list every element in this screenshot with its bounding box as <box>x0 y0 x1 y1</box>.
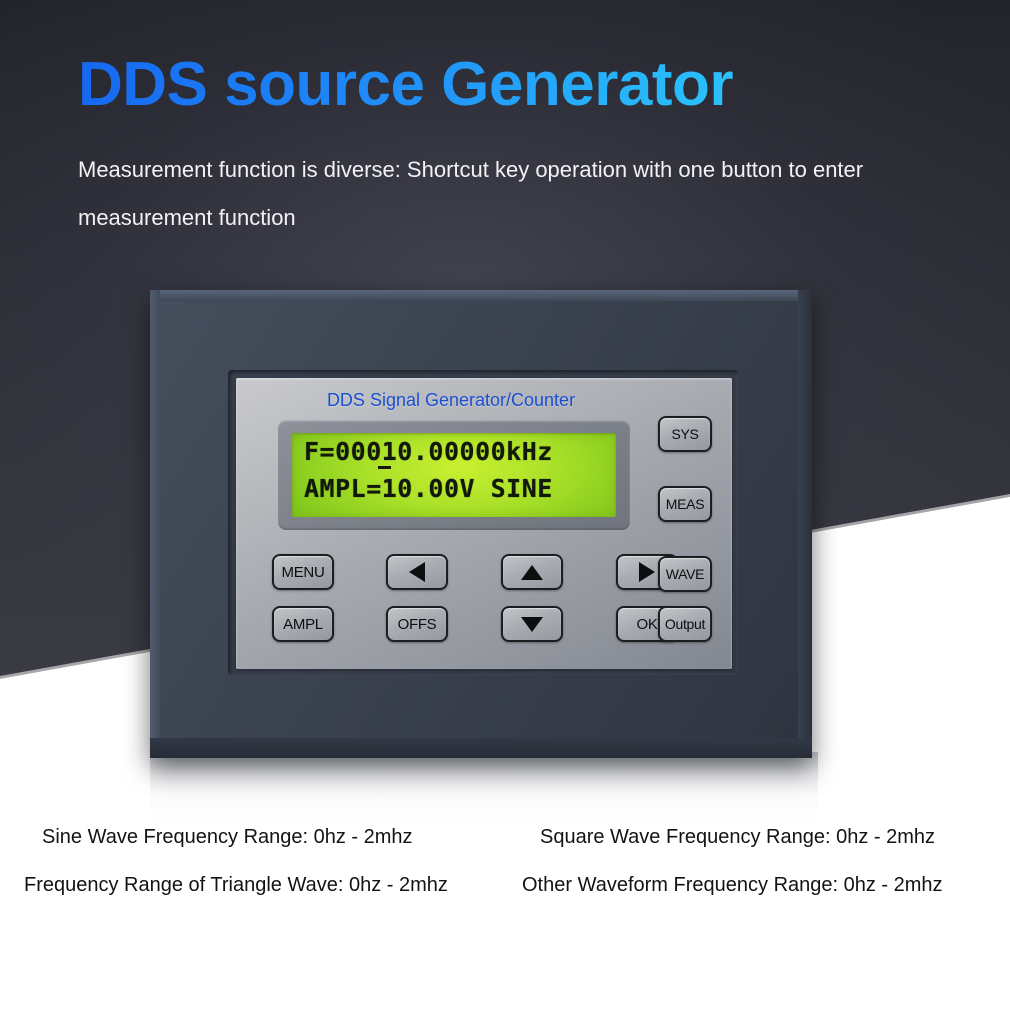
device-brand-label: DDS Signal Generator/Counter <box>236 390 666 411</box>
meas-button[interactable]: MEAS <box>658 486 712 522</box>
page-subtitle: Measurement function is diverse: Shortcu… <box>78 146 958 242</box>
chassis-top-bevel <box>150 290 812 301</box>
page-title: DDS source Generator <box>78 52 958 117</box>
dds-signal-generator-device: DDS Signal Generator/Counter F=00010.000… <box>150 290 812 758</box>
lcd-bezel: F=00010.00000kHz AMPL=10.00V SINE <box>278 420 630 530</box>
lcd-cursor-underline <box>378 466 391 469</box>
ampl-button[interactable]: AMPL <box>272 606 334 642</box>
right-arrow-icon <box>639 562 655 582</box>
spec-sine-wave: Sine Wave Frequency Range: 0hz - 2mhz <box>42 826 413 849</box>
output-button[interactable]: Output <box>658 606 712 642</box>
left-arrow-button[interactable] <box>386 554 448 590</box>
menu-button[interactable]: MENU <box>272 554 334 590</box>
spec-other-waveform: Other Waveform Frequency Range: 0hz - 2m… <box>522 874 943 897</box>
product-banner: DDS source Generator Measurement functio… <box>0 0 1010 1010</box>
down-arrow-button[interactable] <box>501 606 563 642</box>
chassis-right-bevel <box>798 290 812 758</box>
up-arrow-button[interactable] <box>501 554 563 590</box>
down-arrow-icon <box>521 617 543 632</box>
offs-button[interactable]: OFFS <box>386 606 448 642</box>
device-reflection <box>150 752 818 826</box>
wave-button[interactable]: WAVE <box>658 556 712 592</box>
lcd-line-amplitude: AMPL=10.00V SINE <box>304 474 553 503</box>
device-faceplate: DDS Signal Generator/Counter F=00010.000… <box>236 378 732 669</box>
sys-button[interactable]: SYS <box>658 416 712 452</box>
lcd-display: F=00010.00000kHz AMPL=10.00V SINE <box>292 433 616 517</box>
left-arrow-icon <box>409 562 425 582</box>
spec-triangle-wave: Frequency Range of Triangle Wave: 0hz - … <box>24 874 448 897</box>
up-arrow-icon <box>521 565 543 580</box>
lcd-line-frequency: F=00010.00000kHz <box>304 437 553 466</box>
chassis-left-bevel <box>150 290 160 758</box>
chassis-bottom-bevel <box>150 738 812 758</box>
spec-square-wave: Square Wave Frequency Range: 0hz - 2mhz <box>540 826 935 849</box>
